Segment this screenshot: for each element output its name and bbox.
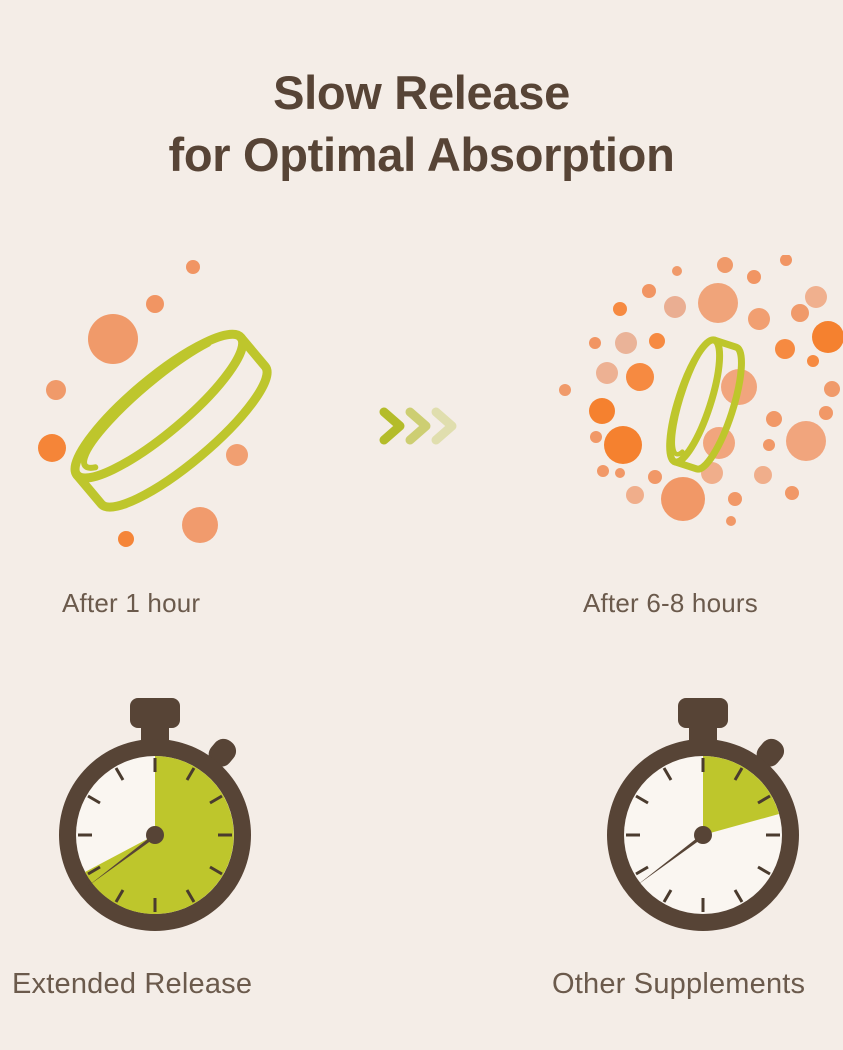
particle-dot <box>649 333 665 349</box>
particle-dot <box>38 434 66 462</box>
particle-dot <box>46 380 66 400</box>
particle-dot <box>182 507 218 543</box>
particle-dot <box>613 302 627 316</box>
particle-dot <box>626 486 644 504</box>
pill-intact-illustration <box>10 255 350 565</box>
particle-dot <box>780 255 792 266</box>
particle-dot <box>590 431 602 443</box>
particle-dot <box>88 314 138 364</box>
particle-dot <box>747 270 761 284</box>
stopwatch-icon <box>578 690 828 940</box>
page-title: Slow Release for Optimal Absorption <box>0 62 843 186</box>
comparison-row <box>0 690 843 940</box>
particle-group-right <box>559 255 843 526</box>
infographic-root: Slow Release for Optimal Absorption <box>0 0 843 1050</box>
particle-dot <box>805 286 827 308</box>
pill-side-wall <box>77 337 283 524</box>
particle-dot <box>226 444 248 466</box>
particle-dot <box>661 477 705 521</box>
particle-dot <box>589 398 615 424</box>
particle-dot <box>785 486 799 500</box>
comparison-other-supplements <box>578 690 828 940</box>
particle-dot <box>186 260 200 274</box>
particle-dot <box>748 308 770 330</box>
particle-dot <box>672 266 682 276</box>
chevron-2-icon <box>410 412 426 440</box>
stage-panel-after-6-8-hours <box>545 255 843 565</box>
stopwatch-icon <box>30 690 280 940</box>
chevron-1-icon <box>384 412 400 440</box>
title-line-1: Slow Release <box>0 62 843 124</box>
particle-dot <box>664 296 686 318</box>
particle-dot <box>597 465 609 477</box>
particle-dot <box>728 492 742 506</box>
stage-caption-after-6-8-hours: After 6-8 hours <box>583 588 758 619</box>
particle-dot <box>589 337 601 349</box>
particle-dot <box>626 363 654 391</box>
particle-dot <box>726 516 736 526</box>
title-line-2: for Optimal Absorption <box>0 124 843 186</box>
particle-dot <box>698 283 738 323</box>
particle-dot <box>717 257 733 273</box>
stage-panel-after-1-hour <box>10 255 350 565</box>
particle-dot <box>763 439 775 451</box>
particle-dot <box>615 332 637 354</box>
progression-arrow <box>378 398 468 454</box>
particle-dot <box>642 284 656 298</box>
chevron-right-triple-icon <box>378 398 468 454</box>
particle-group-left <box>38 260 248 547</box>
pill-dissolving-illustration <box>545 255 843 565</box>
particle-dot <box>807 355 819 367</box>
particle-dot <box>596 362 618 384</box>
particle-dot <box>819 406 833 420</box>
comparison-caption-other-supplements: Other Supplements <box>552 968 805 1001</box>
particle-dot <box>604 426 642 464</box>
chevron-3-icon <box>436 412 452 440</box>
particle-dot <box>559 384 571 396</box>
particle-dot <box>615 468 625 478</box>
particle-dot <box>812 321 843 353</box>
comparison-extended-release <box>30 690 280 940</box>
particle-dot <box>766 411 782 427</box>
particle-dot <box>791 304 809 322</box>
particle-dot <box>775 339 795 359</box>
stage-caption-after-1-hour: After 1 hour <box>62 588 200 619</box>
particle-dot <box>146 295 164 313</box>
pill-body-dissolving <box>660 335 752 474</box>
particle-dot <box>648 470 662 484</box>
stopwatch-hand-hub <box>694 826 712 844</box>
particle-dot <box>754 466 772 484</box>
comparison-caption-extended-release: Extended Release <box>12 968 252 1001</box>
particle-dot <box>824 381 840 397</box>
stopwatch-hand-hub <box>146 826 164 844</box>
particle-dot <box>118 531 134 547</box>
particle-dot <box>786 421 826 461</box>
